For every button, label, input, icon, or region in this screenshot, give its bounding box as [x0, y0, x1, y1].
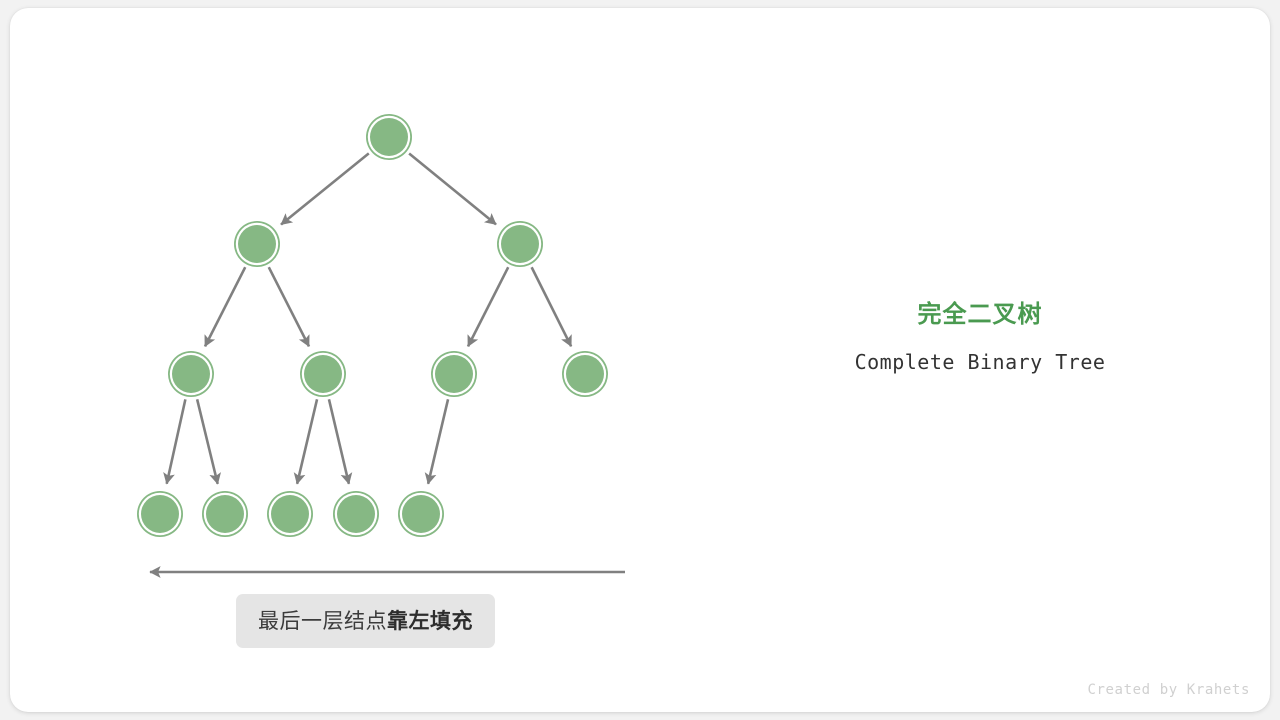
tree-node [234, 221, 280, 267]
node-disc [566, 355, 604, 393]
node-disc [337, 495, 375, 533]
node-disc [501, 225, 539, 263]
node-disc [238, 225, 276, 263]
tree-node [267, 491, 313, 537]
node-disc [206, 495, 244, 533]
tree-node [366, 114, 412, 160]
tree-edge [468, 267, 508, 346]
credit-footer: Created by Krahets [10, 682, 1250, 698]
node-disc [402, 495, 440, 533]
complete-binary-tree-figure: 完全二叉树 Complete Binary Tree 最后一层结点靠左填充 Cr… [10, 8, 1270, 712]
tree-node [202, 491, 248, 537]
tree-edge [409, 153, 496, 224]
tree-edge [197, 399, 218, 484]
tree-edge [297, 399, 317, 484]
tree-edge [205, 267, 245, 346]
tree-edge [329, 399, 349, 484]
tree-node [497, 221, 543, 267]
node-disc [304, 355, 342, 393]
tree-node [398, 491, 444, 537]
node-disc [435, 355, 473, 393]
tree-edge [269, 267, 309, 346]
caption-emphasis: 靠左填充 [387, 610, 473, 633]
caption-prefix: 最后一层结点 [258, 610, 387, 633]
tree-node [300, 351, 346, 397]
tree-edge [281, 153, 369, 224]
tree-edge [167, 399, 186, 483]
tree-node [333, 491, 379, 537]
figure-card: 完全二叉树 Complete Binary Tree 最后一层结点靠左填充 Cr… [10, 8, 1270, 712]
tree-node [562, 351, 608, 397]
tree-nodes [137, 114, 608, 537]
node-disc [172, 355, 210, 393]
tree-node [431, 351, 477, 397]
node-disc [141, 495, 179, 533]
caption-chip: 最后一层结点靠左填充 [236, 594, 495, 648]
tree-edge [428, 399, 448, 484]
title-block: 完全二叉树 Complete Binary Tree [800, 300, 1160, 374]
title-english: Complete Binary Tree [800, 350, 1160, 374]
node-disc [271, 495, 309, 533]
title-chinese: 完全二叉树 [800, 300, 1160, 330]
tree-node [137, 491, 183, 537]
tree-node [168, 351, 214, 397]
tree-edges [167, 153, 571, 484]
node-disc [370, 118, 408, 156]
tree-edge [532, 267, 572, 346]
